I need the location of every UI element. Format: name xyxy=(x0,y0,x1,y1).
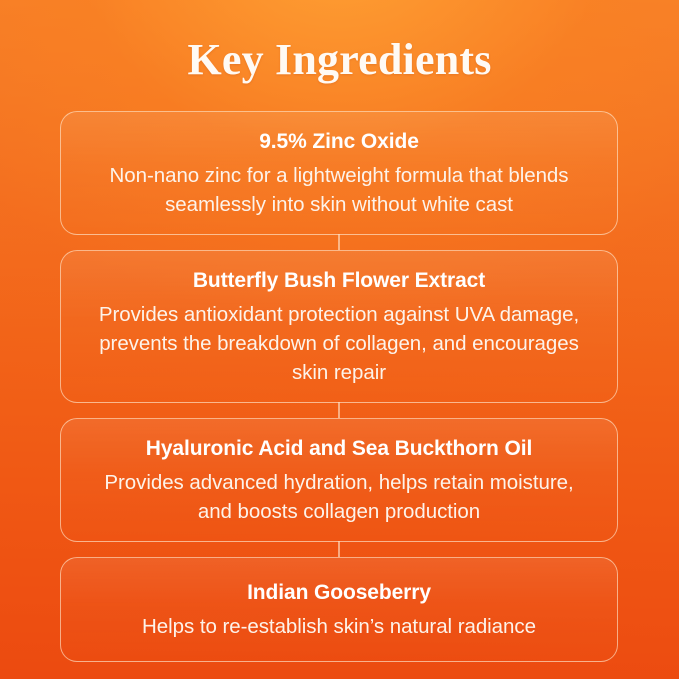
ingredient-card: Indian Gooseberry Helps to re-establish … xyxy=(60,557,618,662)
ingredient-card: Hyaluronic Acid and Sea Buckthorn Oil Pr… xyxy=(60,418,618,542)
key-ingredients-poster: Key Ingredients 9.5% Zinc Oxide Non-nano… xyxy=(0,0,679,679)
ingredient-card: Butterfly Bush Flower Extract Provides a… xyxy=(60,250,618,403)
ingredient-name: 9.5% Zinc Oxide xyxy=(87,127,591,157)
ingredient-description: Provides advanced hydration, helps retai… xyxy=(87,468,591,526)
card-connector-line xyxy=(338,541,339,557)
ingredient-card: 9.5% Zinc Oxide Non-nano zinc for a ligh… xyxy=(60,111,618,235)
page-title: Key Ingredients xyxy=(0,34,679,86)
ingredient-card-list: 9.5% Zinc Oxide Non-nano zinc for a ligh… xyxy=(60,111,618,662)
ingredient-name: Indian Gooseberry xyxy=(87,578,591,608)
ingredient-name: Hyaluronic Acid and Sea Buckthorn Oil xyxy=(87,434,591,464)
ingredient-description: Helps to re-establish skin’s natural rad… xyxy=(87,612,591,641)
card-connector-line xyxy=(338,402,339,418)
ingredient-description: Provides antioxidant protection against … xyxy=(87,300,591,387)
ingredient-name: Butterfly Bush Flower Extract xyxy=(87,266,591,296)
card-connector-line xyxy=(338,234,339,250)
ingredient-description: Non-nano zinc for a lightweight formula … xyxy=(87,161,591,219)
